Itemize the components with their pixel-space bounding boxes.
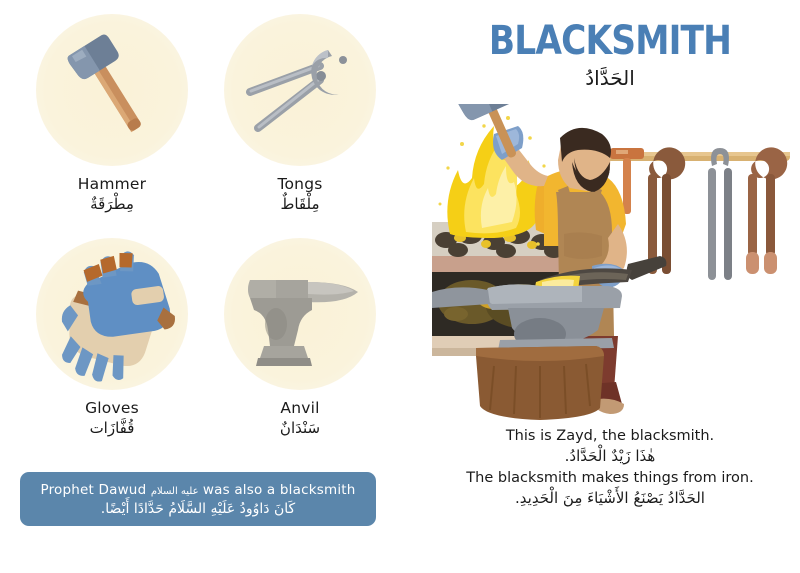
page-title: BLACKSMITH [447,18,774,64]
caption-line-1: This is Zayd, the blacksmith. [420,428,800,444]
fact-banner: Prophet Dawud عليه السلام was also a bla… [20,472,376,526]
fact-text-after: was also a blacksmith [203,482,356,498]
vocab-item-tongs: Tongs مِلْقَاطٌ [206,14,394,238]
scene-caption: This is Zayd, the blacksmith. هٰذَا زَيْ… [420,428,800,512]
hammer-icon [36,14,188,166]
tongs-icon [224,14,376,166]
page-title-arabic: الحَدَّادُ [420,66,800,90]
caption-line-2: هٰذَا زَيْدٌ الْحَدَّادُ. [420,447,800,465]
fact-prophet-name: Prophet Dawud [40,482,146,498]
caption-line-3: The blacksmith makes things from iron. [420,470,800,486]
vocab-label-ar: سَنْدَانٌ [280,419,320,437]
fact-banner-arabic: كَانَ دَاوُودُ عَلَيْهِ السَّلَامُ حَدَّ… [101,501,295,517]
vocab-label-ar: مِطْرَقَةٌ [90,195,134,213]
caption-line-4: الحَدَّادُ يَصْنَعُ الأَشْيَاءَ مِنَ الْ… [420,489,800,507]
vocab-label-en: Tongs [277,175,322,193]
vocab-item-anvil: Anvil سَنْدَانٌ [206,238,394,462]
vocab-label-en: Anvil [280,399,319,417]
vocab-label-ar: مِلْقَاطٌ [280,195,319,213]
vocab-label-en: Gloves [85,399,139,417]
honorific-glyph: عليه السلام [151,486,199,497]
vocab-item-hammer: Hammer مِطْرَقَةٌ [18,14,206,238]
vocab-label-en: Hammer [78,175,146,193]
book-page: Hammer مِطْرَقَةٌ [0,0,800,573]
anvil-icon [224,238,376,390]
vocabulary-grid: Hammer مِطْرَقَةٌ [18,14,394,462]
vocab-item-gloves: Gloves قُفَّازَات [18,238,206,462]
blacksmith-scene [432,104,794,422]
gloves-icon [36,238,188,390]
vocab-label-ar: قُفَّازَات [90,419,135,437]
fact-banner-english: Prophet Dawud عليه السلام was also a bla… [40,482,355,498]
